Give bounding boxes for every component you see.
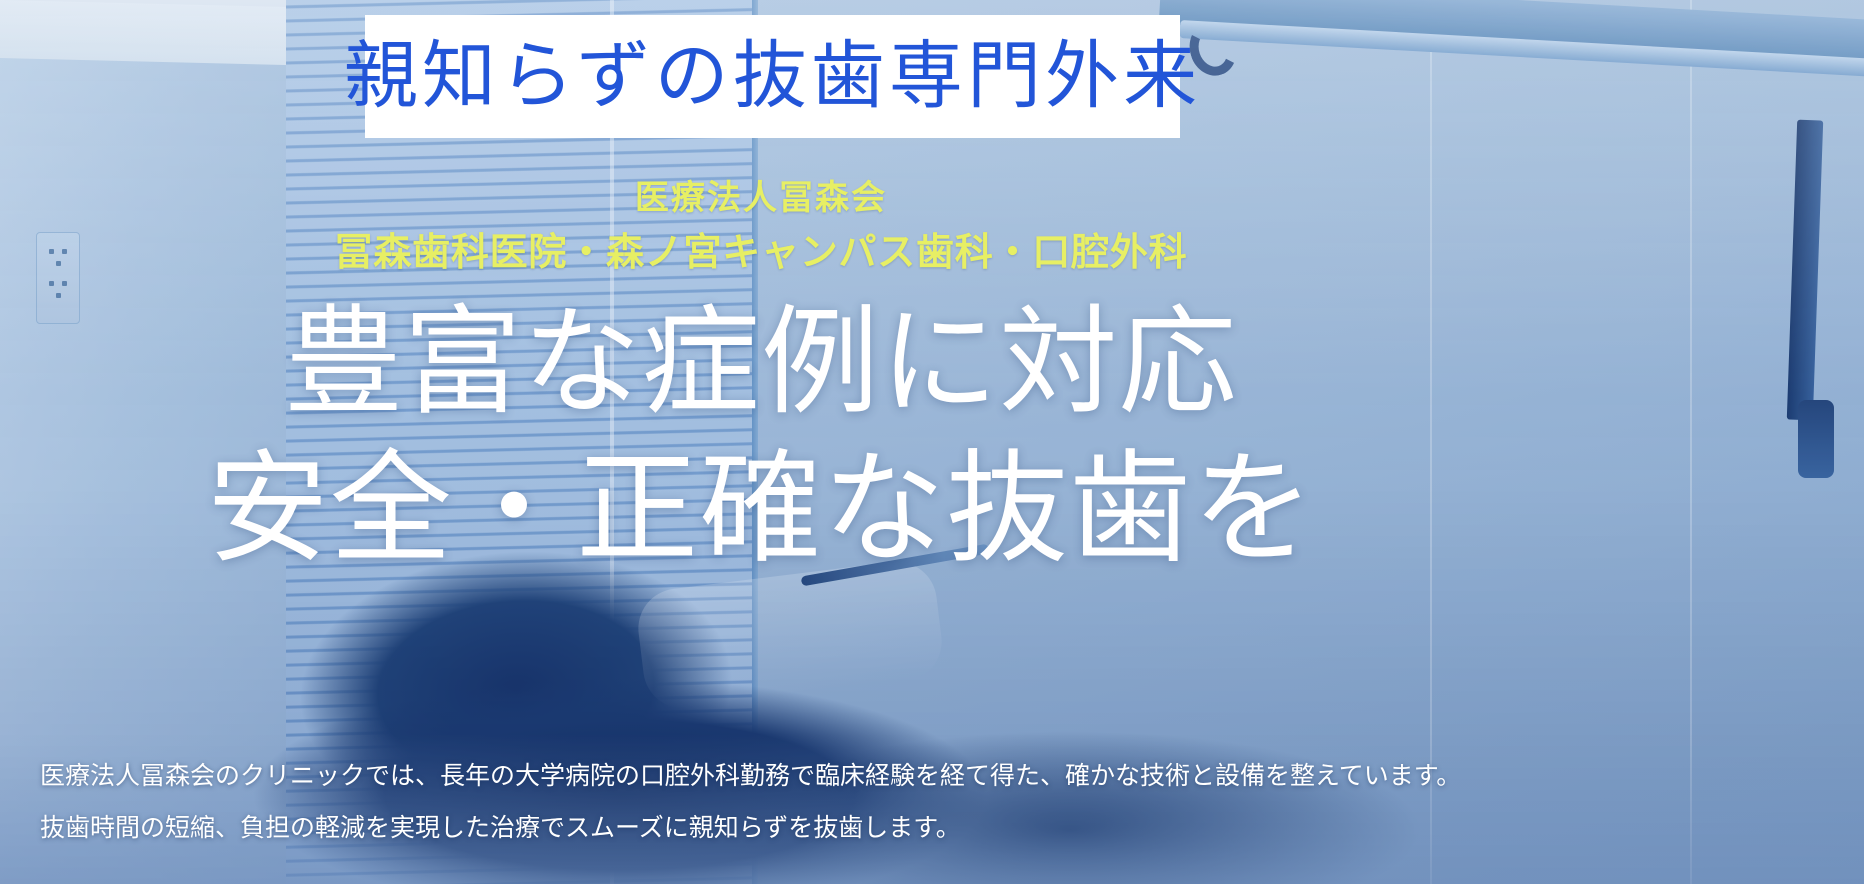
hero-title-box: 親知らずの抜歯専門外来	[365, 15, 1180, 138]
hero-lede-line-1: 医療法人冨森会のクリニックでは、長年の大学病院の口腔外科勤務で臨床経験を経て得た…	[40, 750, 1840, 802]
hero-subtitle-clinics: 冨森歯科医院・森ノ宮キャンパス歯科・口腔外科	[0, 232, 1522, 275]
hero-lede-line-2: 抜歯時間の短縮、負担の軽減を実現した治療でスムーズに親知らずを抜歯します。	[40, 802, 1840, 854]
hero-headline-line-1: 豊富な症例に対応	[0, 305, 1522, 423]
hero-content: 親知らずの抜歯専門外来 医療法人冨森会 冨森歯科医院・森ノ宮キャンパス歯科・口腔…	[0, 0, 1864, 884]
hero-title: 親知らずの抜歯専門外来	[344, 40, 1201, 114]
hero-banner: 親知らずの抜歯専門外来 医療法人冨森会 冨森歯科医院・森ノ宮キャンパス歯科・口腔…	[0, 0, 1864, 884]
hero-headline-line-2: 安全・正確な抜歯を	[0, 450, 1522, 572]
hero-lede: 医療法人冨森会のクリニックでは、長年の大学病院の口腔外科勤務で臨床経験を経て得た…	[40, 750, 1840, 854]
hero-subtitle-organization: 医療法人冨森会	[0, 180, 1522, 218]
